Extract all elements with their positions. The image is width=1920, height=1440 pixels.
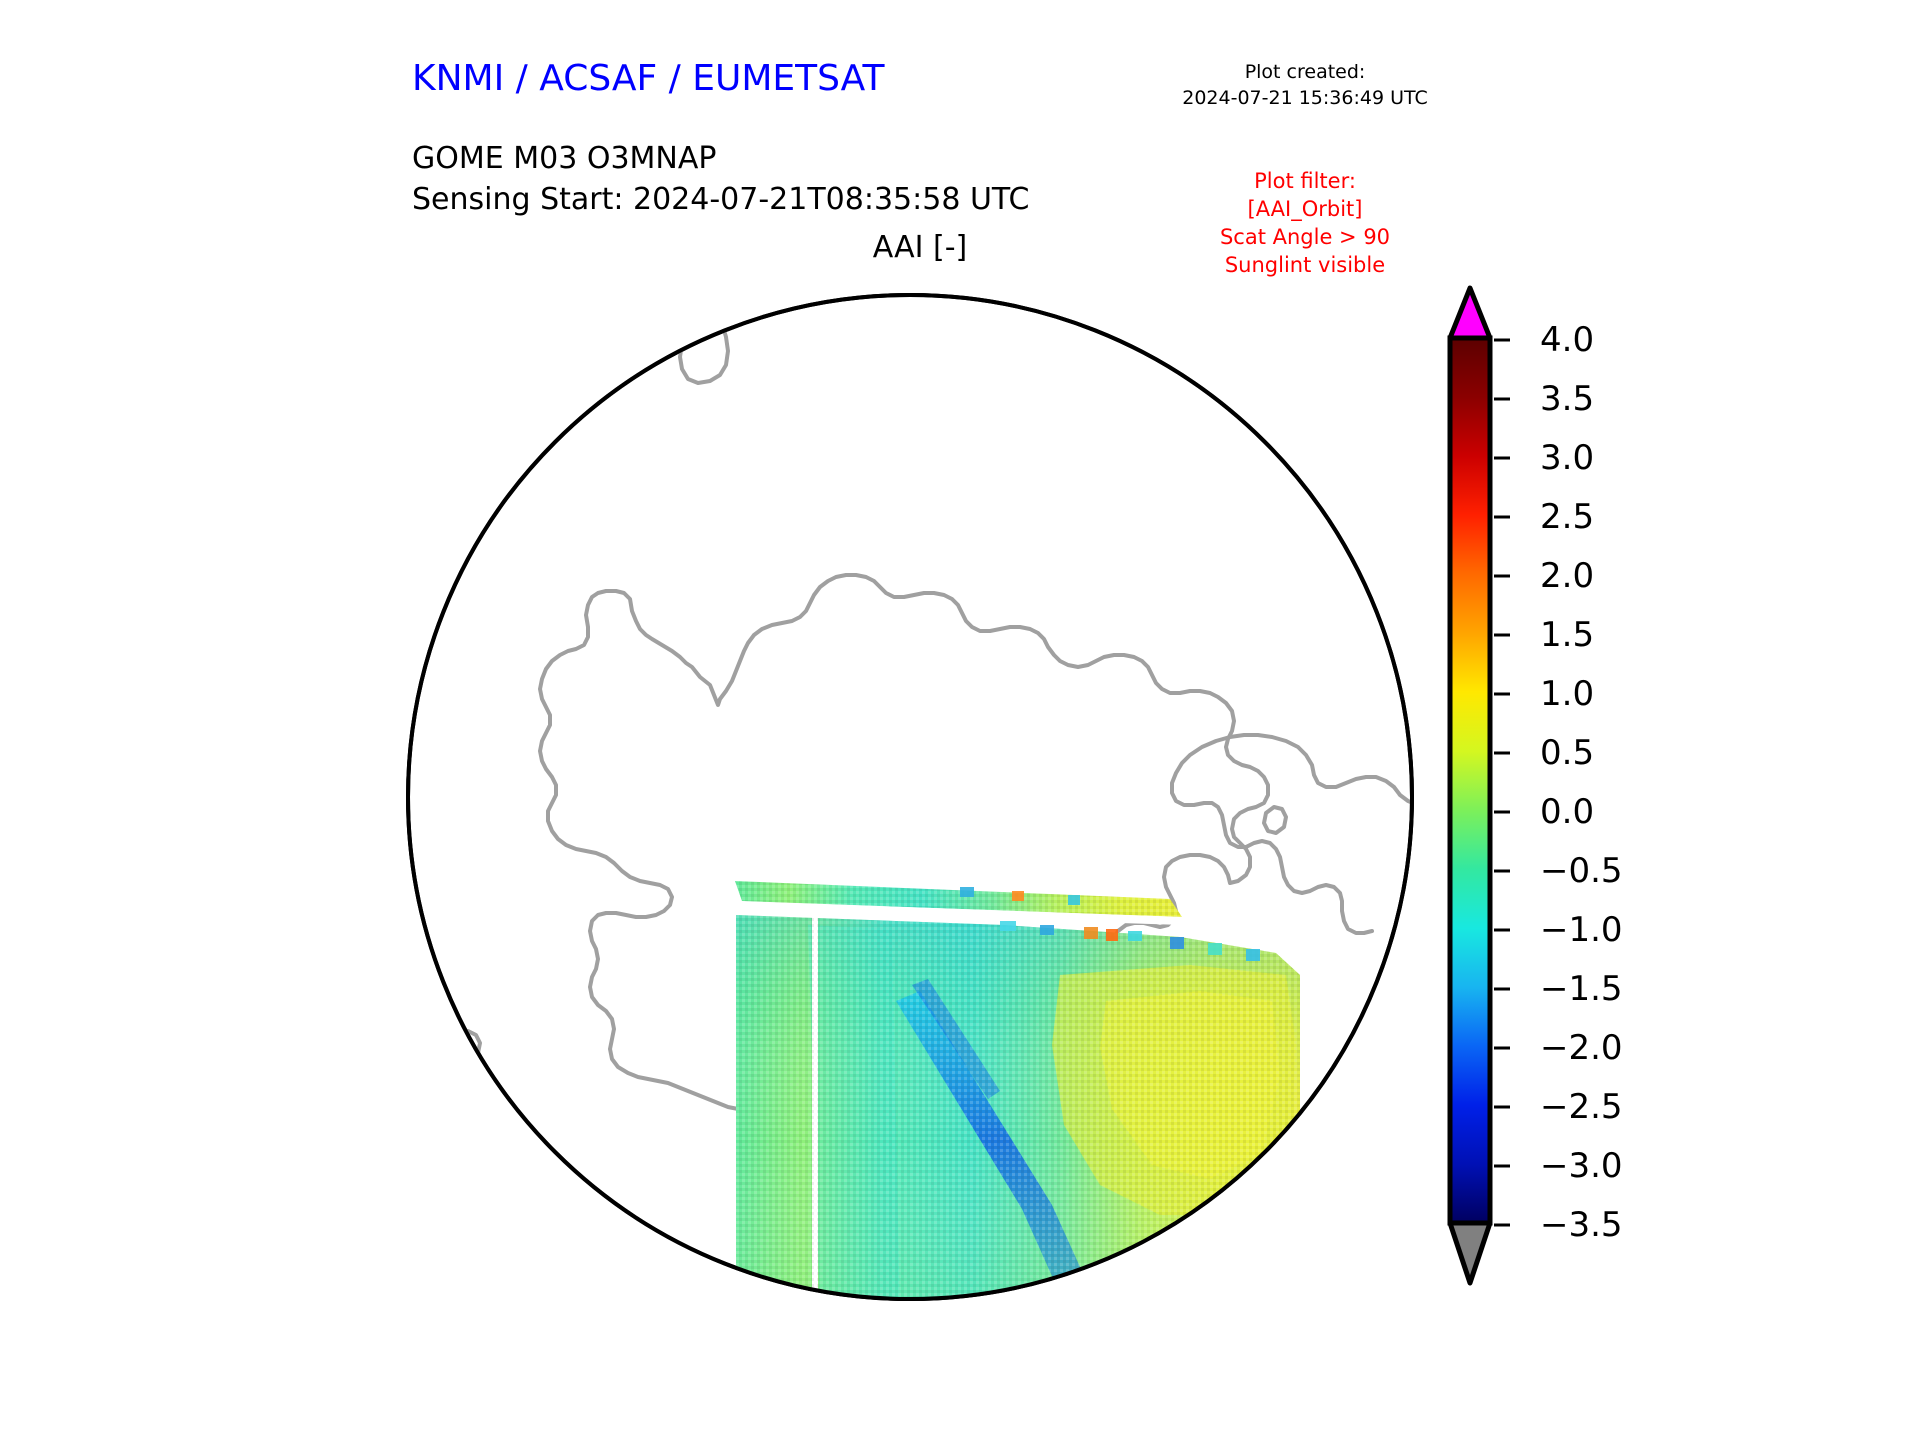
colorbar-tick-mark-14 xyxy=(1494,1165,1510,1168)
colorbar-tick-label-9: −0.5 xyxy=(1540,851,1623,891)
swath-pixel-texture xyxy=(736,915,1300,1310)
sensing-start: Sensing Start: 2024-07-21T08:35:58 UTC xyxy=(412,180,1029,221)
organisation-title: KNMI / ACSAF / EUMETSAT xyxy=(412,58,884,99)
colorbar-tick-mark-1 xyxy=(1494,398,1510,401)
colorbar-tick-mark-15 xyxy=(1494,1224,1510,1227)
plot-filter-line-3: Sunglint visible xyxy=(1160,252,1450,280)
colorbar-tick-label-1: 3.5 xyxy=(1540,379,1594,419)
colorbar-tick-label-6: 1.0 xyxy=(1540,674,1594,714)
coastline-tasmania xyxy=(526,377,576,423)
plot-filter-line-1: [AAI_Orbit] xyxy=(1160,196,1450,224)
colorbar-tick-label-7: 0.5 xyxy=(1540,733,1594,773)
dataset-info-block: GOME M03 O3MNAP Sensing Start: 2024-07-2… xyxy=(412,139,1029,221)
colorbar-tick-mark-13 xyxy=(1494,1106,1510,1109)
plot-created-block: Plot created: 2024-07-21 15:36:49 UTC xyxy=(1160,60,1450,111)
plot-created-label: Plot created: xyxy=(1160,60,1450,86)
aai-data-swath xyxy=(734,881,1300,1310)
colorbar-tick-label-2: 3.0 xyxy=(1540,438,1594,478)
colorbar-tick-mark-4 xyxy=(1494,575,1510,578)
colorbar-tick-mark-11 xyxy=(1494,988,1510,991)
coastline-australia-edge xyxy=(400,311,450,357)
colorbar: 4.0 3.5 3.0 2.5 2.0 1.5 1.0 0.5 0.0 −0.5… xyxy=(1432,283,1852,1313)
colorbar-tick-label-4: 2.0 xyxy=(1540,556,1594,596)
colorbar-over-arrow xyxy=(1450,288,1490,338)
polar-map[interactable] xyxy=(400,285,1420,1310)
plot-filter-block: Plot filter: [AAI_Orbit] Scat Angle > 90… xyxy=(1160,168,1450,280)
coastline-new-zealand-north xyxy=(718,285,764,317)
colorbar-tick-mark-10 xyxy=(1494,929,1510,932)
coastline-inlet-detail xyxy=(1338,1063,1396,1109)
colorbar-tick-mark-9 xyxy=(1494,870,1510,873)
colorbar-tick-label-10: −1.0 xyxy=(1540,910,1623,950)
quantity-title: AAI [-] xyxy=(770,230,1070,265)
colorbar-tick-mark-0 xyxy=(1494,339,1510,342)
colorbar-tick-mark-12 xyxy=(1494,1047,1510,1050)
plot-filter-line-0: Plot filter: xyxy=(1160,168,1450,196)
plot-created-timestamp: 2024-07-21 15:36:49 UTC xyxy=(1160,86,1450,112)
colorbar-tick-mark-6 xyxy=(1494,693,1510,696)
colorbar-gradient-bar xyxy=(1450,338,1490,1223)
plot-figure: KNMI / ACSAF / EUMETSAT Plot created: 20… xyxy=(0,0,1920,1440)
colorbar-tick-mark-3 xyxy=(1494,516,1510,519)
colorbar-tick-label-12: −2.0 xyxy=(1540,1028,1623,1068)
coastline-falklands xyxy=(1410,985,1420,1013)
colorbar-tick-label-14: −3.0 xyxy=(1540,1146,1623,1186)
colorbar-tick-label-3: 2.5 xyxy=(1540,497,1594,537)
colorbar-tick-mark-7 xyxy=(1494,752,1510,755)
colorbar-under-arrow xyxy=(1450,1223,1490,1283)
colorbar-tick-label-0: 4.0 xyxy=(1540,320,1594,360)
colorbar-tick-mark-8 xyxy=(1494,811,1510,814)
colorbar-tick-label-5: 1.5 xyxy=(1540,615,1594,655)
plot-filter-line-2: Scat Angle > 90 xyxy=(1160,224,1450,252)
colorbar-tick-label-11: −1.5 xyxy=(1540,969,1623,1009)
colorbar-tick-label-13: −2.5 xyxy=(1540,1087,1623,1127)
colorbar-tick-label-8: 0.0 xyxy=(1540,792,1594,832)
colorbar-tick-label-15: −3.5 xyxy=(1540,1205,1623,1245)
dataset-name: GOME M03 O3MNAP xyxy=(412,139,1029,180)
colorbar-tick-mark-5 xyxy=(1494,634,1510,637)
colorbar-tick-mark-2 xyxy=(1494,457,1510,460)
